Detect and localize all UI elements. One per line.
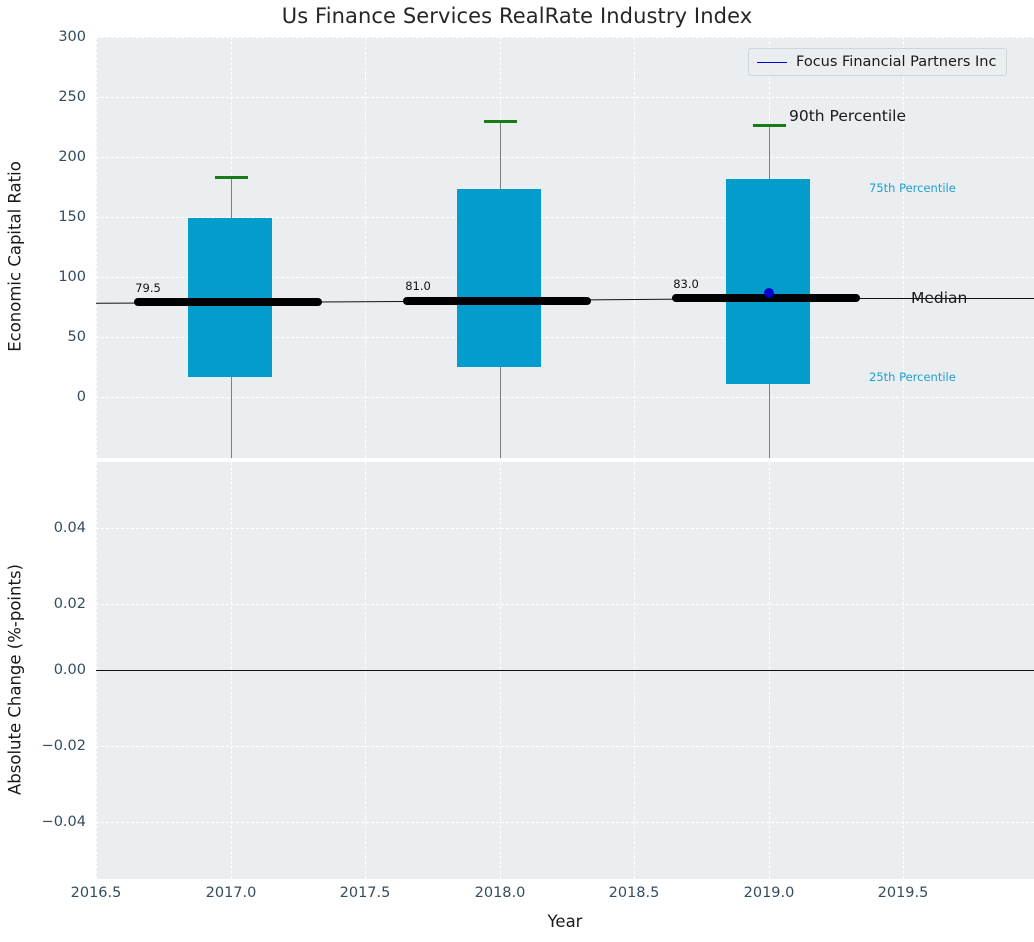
xtick-2018-0: 2018.0 bbox=[475, 885, 526, 901]
gridline-x-2019-5 bbox=[903, 37, 904, 458]
gridline-x-2016-5 bbox=[96, 37, 97, 458]
xtick-2019-5: 2019.5 bbox=[878, 885, 929, 901]
median-marker-2018 bbox=[403, 297, 591, 305]
xtick-2017-5: 2017.5 bbox=[340, 885, 391, 901]
gridline-top-0 bbox=[96, 397, 1034, 398]
median-value-2019: 83.0 bbox=[673, 277, 699, 291]
box-2018 bbox=[457, 189, 541, 367]
legend-label-focus-financial-partners: Focus Financial Partners Inc bbox=[796, 54, 996, 70]
ytick-top-300: 300 bbox=[0, 29, 86, 45]
median-value-2018: 81.0 bbox=[405, 279, 431, 293]
x-axis-label: Year bbox=[96, 912, 1034, 931]
focus-financial-partners-marker-2019 bbox=[764, 288, 774, 298]
annotation-25th-percentile: 25th Percentile bbox=[869, 370, 956, 384]
cap-90th-2019 bbox=[753, 124, 786, 127]
zero-baseline bbox=[96, 670, 1034, 671]
cap-90th-2018 bbox=[484, 120, 517, 123]
chart-title: Us Finance Services RealRate Industry In… bbox=[0, 4, 1034, 28]
gridline-bottom-n0-04 bbox=[96, 822, 1034, 823]
xtick-2017-0: 2017.0 bbox=[206, 885, 257, 901]
xtick-2018-5: 2018.5 bbox=[609, 885, 660, 901]
gridline-top-250 bbox=[96, 97, 1034, 98]
annotation-90th-percentile: 90th Percentile bbox=[789, 107, 906, 125]
gridline-top-200 bbox=[96, 157, 1034, 158]
cap-90th-2017 bbox=[215, 176, 248, 179]
xtick-2016-5: 2016.5 bbox=[71, 885, 122, 901]
absolute-change-panel bbox=[96, 462, 1034, 879]
economic-capital-ratio-panel: 79.5 81.0 83.0 bbox=[96, 37, 1034, 458]
y-axis-label-top: Economic Capital Ratio bbox=[6, 47, 25, 467]
chart-figure: Us Finance Services RealRate Industry In… bbox=[0, 0, 1034, 942]
annotation-median: Median bbox=[911, 289, 967, 307]
y-axis-label-bottom: Absolute Change (%-points) bbox=[6, 470, 25, 890]
chart-legend: Focus Financial Partners Inc bbox=[748, 48, 1007, 76]
gridline-bottom-n0-02 bbox=[96, 746, 1034, 747]
gridline-x-2017-5 bbox=[365, 37, 366, 458]
median-marker-2017 bbox=[134, 298, 322, 306]
gridline-top-300 bbox=[96, 37, 1034, 38]
annotation-75th-percentile: 75th Percentile bbox=[869, 181, 956, 195]
gridline-bottom-0-02 bbox=[96, 604, 1034, 605]
median-value-2017: 79.5 bbox=[135, 281, 161, 295]
xtick-2019-0: 2019.0 bbox=[744, 885, 795, 901]
legend-line-swatch-focus-financial-partners bbox=[757, 62, 787, 63]
gridline-bottom-0-04 bbox=[96, 528, 1034, 529]
gridline-x-2018-5 bbox=[634, 37, 635, 458]
box-2019 bbox=[726, 179, 810, 384]
